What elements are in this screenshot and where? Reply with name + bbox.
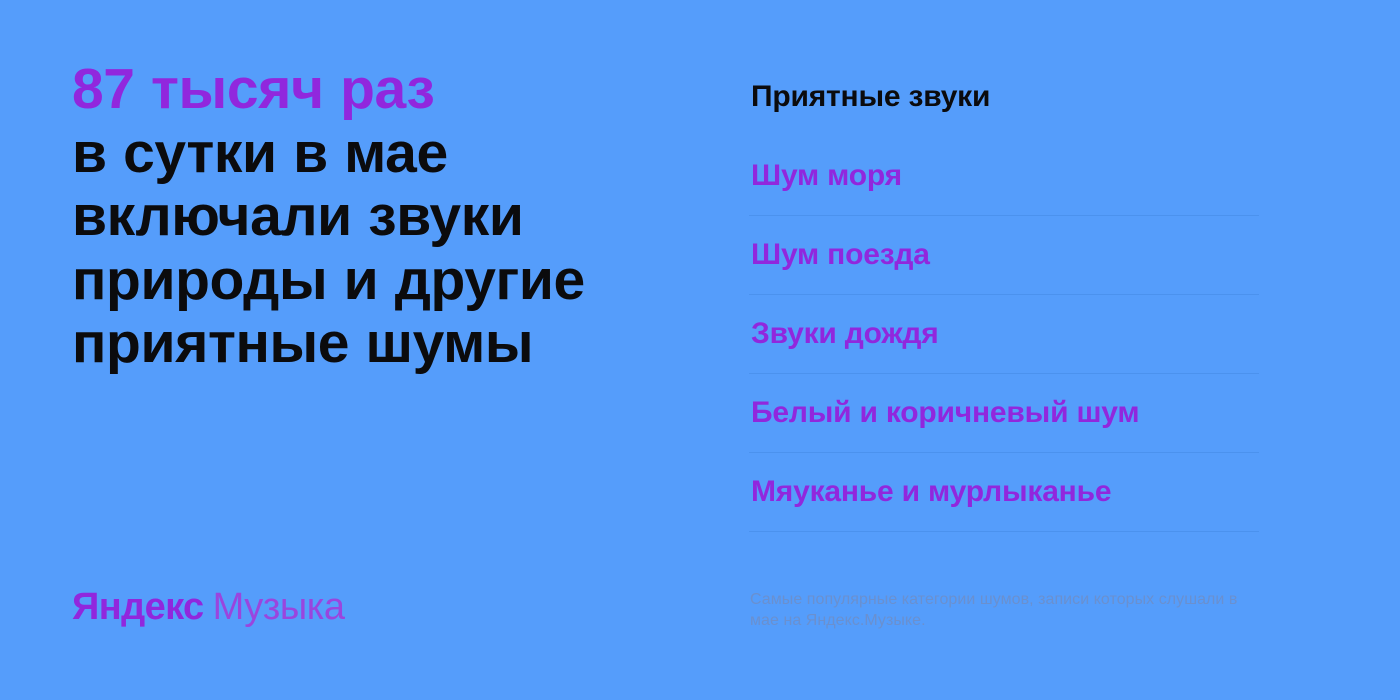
headline-accent-line: 87 тысяч раз [72, 58, 712, 122]
list-item[interactable]: Звуки дождя [749, 295, 1259, 374]
logo-product-text: Музыка [213, 586, 345, 628]
infographic-card: 87 тысяч раз в сутки в мае включали звук… [0, 0, 1400, 700]
list-item[interactable]: Белый и коричневый шум [749, 374, 1259, 453]
list-item-label: Шум поезда [749, 238, 930, 271]
list-item-label: Звуки дождя [749, 317, 939, 350]
list-item[interactable]: Шум моря [749, 137, 1259, 216]
list-title: Приятные звуки [751, 80, 1259, 115]
page-title: 87 тысяч раз в сутки в мае включали звук… [72, 58, 712, 376]
headline-body: в сутки в мае включали звуки природы и д… [72, 122, 712, 376]
list-item-label: Шум моря [749, 159, 902, 192]
list-item-label: Мяуканье и мурлыканье [749, 475, 1111, 508]
headline-block: 87 тысяч раз в сутки в мае включали звук… [72, 58, 712, 376]
sounds-panel: Приятные звуки Шум моря Шум поезда Звуки… [749, 80, 1259, 532]
sound-category-list: Шум моря Шум поезда Звуки дождя Белый и … [749, 137, 1259, 532]
list-item[interactable]: Мяуканье и мурлыканье [749, 453, 1259, 532]
list-item[interactable]: Шум поезда [749, 216, 1259, 295]
logo-brand-text: Яндекс [72, 586, 204, 628]
footnote-caption: Самые популярные категории шумов, записи… [750, 590, 1270, 632]
list-item-label: Белый и коричневый шум [749, 396, 1139, 429]
yandex-music-logo[interactable]: ЯндексМузыка [72, 588, 345, 626]
